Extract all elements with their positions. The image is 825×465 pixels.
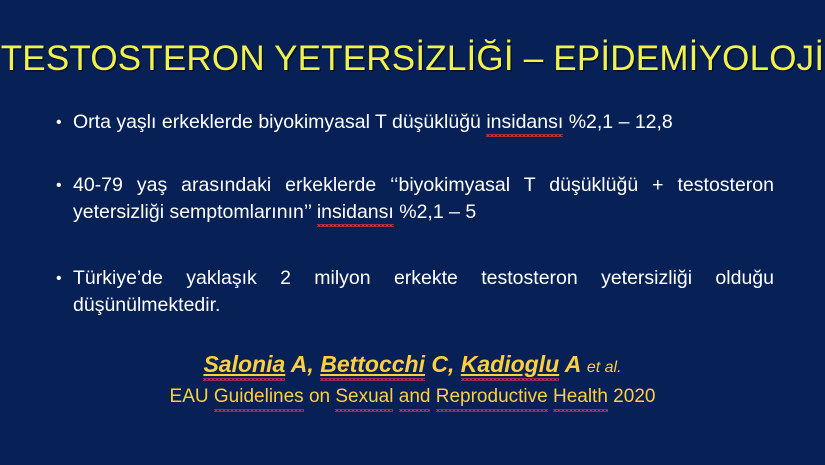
bullet-2-misspelled-word: insidansı [317, 199, 394, 226]
bullet-list: • Orta yaşlı erkeklerde biyokimyasal T d… [56, 109, 774, 319]
source-part-reproductive: Reproductive [436, 384, 548, 410]
bullet-item-1: • Orta yaşlı erkeklerde biyokimyasal T d… [56, 109, 774, 136]
bullet-2-text-after: %2,1 – 5 [394, 201, 476, 223]
bullet-marker-icon: • [56, 265, 73, 292]
presentation-slide: TESTOSTERON YETERSİZLİĞİ – EPİDEMİYOLOJİ… [0, 0, 825, 465]
bullet-item-1-text: Orta yaşlı erkeklerde biyokimyasal T düş… [73, 109, 774, 136]
citation-authors: Salonia A, Bettocchi C, Kadioglu A et al… [0, 350, 825, 382]
source-part-on: on [304, 386, 336, 407]
author-2-surname: Bettocchi [320, 350, 425, 379]
bullet-item-3-text: Türkiye’de yaklaşık 2 milyon erkekte tes… [73, 265, 774, 319]
spacer-2 [56, 226, 774, 265]
bullet-item-3: • Türkiye’de yaklaşık 2 milyon erkekte t… [56, 265, 774, 319]
bullet-item-2: • 40-79 yaş arasındaki erkeklerde ‘‘biyo… [56, 172, 774, 226]
bullet-item-2-text: 40-79 yaş arasındaki erkeklerde ‘‘biyoki… [73, 172, 774, 226]
author-2-initial: C, [425, 351, 461, 377]
bullet-1-text-after: %2,1 – 12,8 [563, 111, 673, 133]
slide-title: TESTOSTERON YETERSİZLİĞİ – EPİDEMİYOLOJİ [0, 37, 825, 81]
bullet-1-misspelled-word: insidansı [486, 109, 563, 136]
source-part-year: 2020 [608, 386, 656, 407]
bullet-marker-icon: • [56, 172, 73, 199]
spacer-1 [56, 136, 774, 172]
source-part-sexual: Sexual [335, 384, 393, 410]
source-part-guidelines: Guidelines [214, 384, 304, 410]
source-part-health: Health [553, 384, 608, 410]
author-1-surname: Salonia [203, 350, 285, 379]
source-part-eau: EAU [170, 386, 214, 407]
citation-source: EAU Guidelines on Sexual and Reproductiv… [0, 384, 825, 410]
citation-block: Salonia A, Bettocchi C, Kadioglu A et al… [0, 350, 825, 410]
citation-et-al: et al. [587, 359, 622, 376]
source-part-and: and [399, 384, 431, 410]
bullet-marker-icon: • [56, 109, 73, 136]
author-3-surname: Kadioglu [461, 350, 559, 379]
bullet-1-text-before: Orta yaşlı erkeklerde biyokimyasal T düş… [73, 111, 486, 133]
author-3-initial: A [559, 351, 587, 377]
author-1-initial: A, [285, 351, 320, 377]
